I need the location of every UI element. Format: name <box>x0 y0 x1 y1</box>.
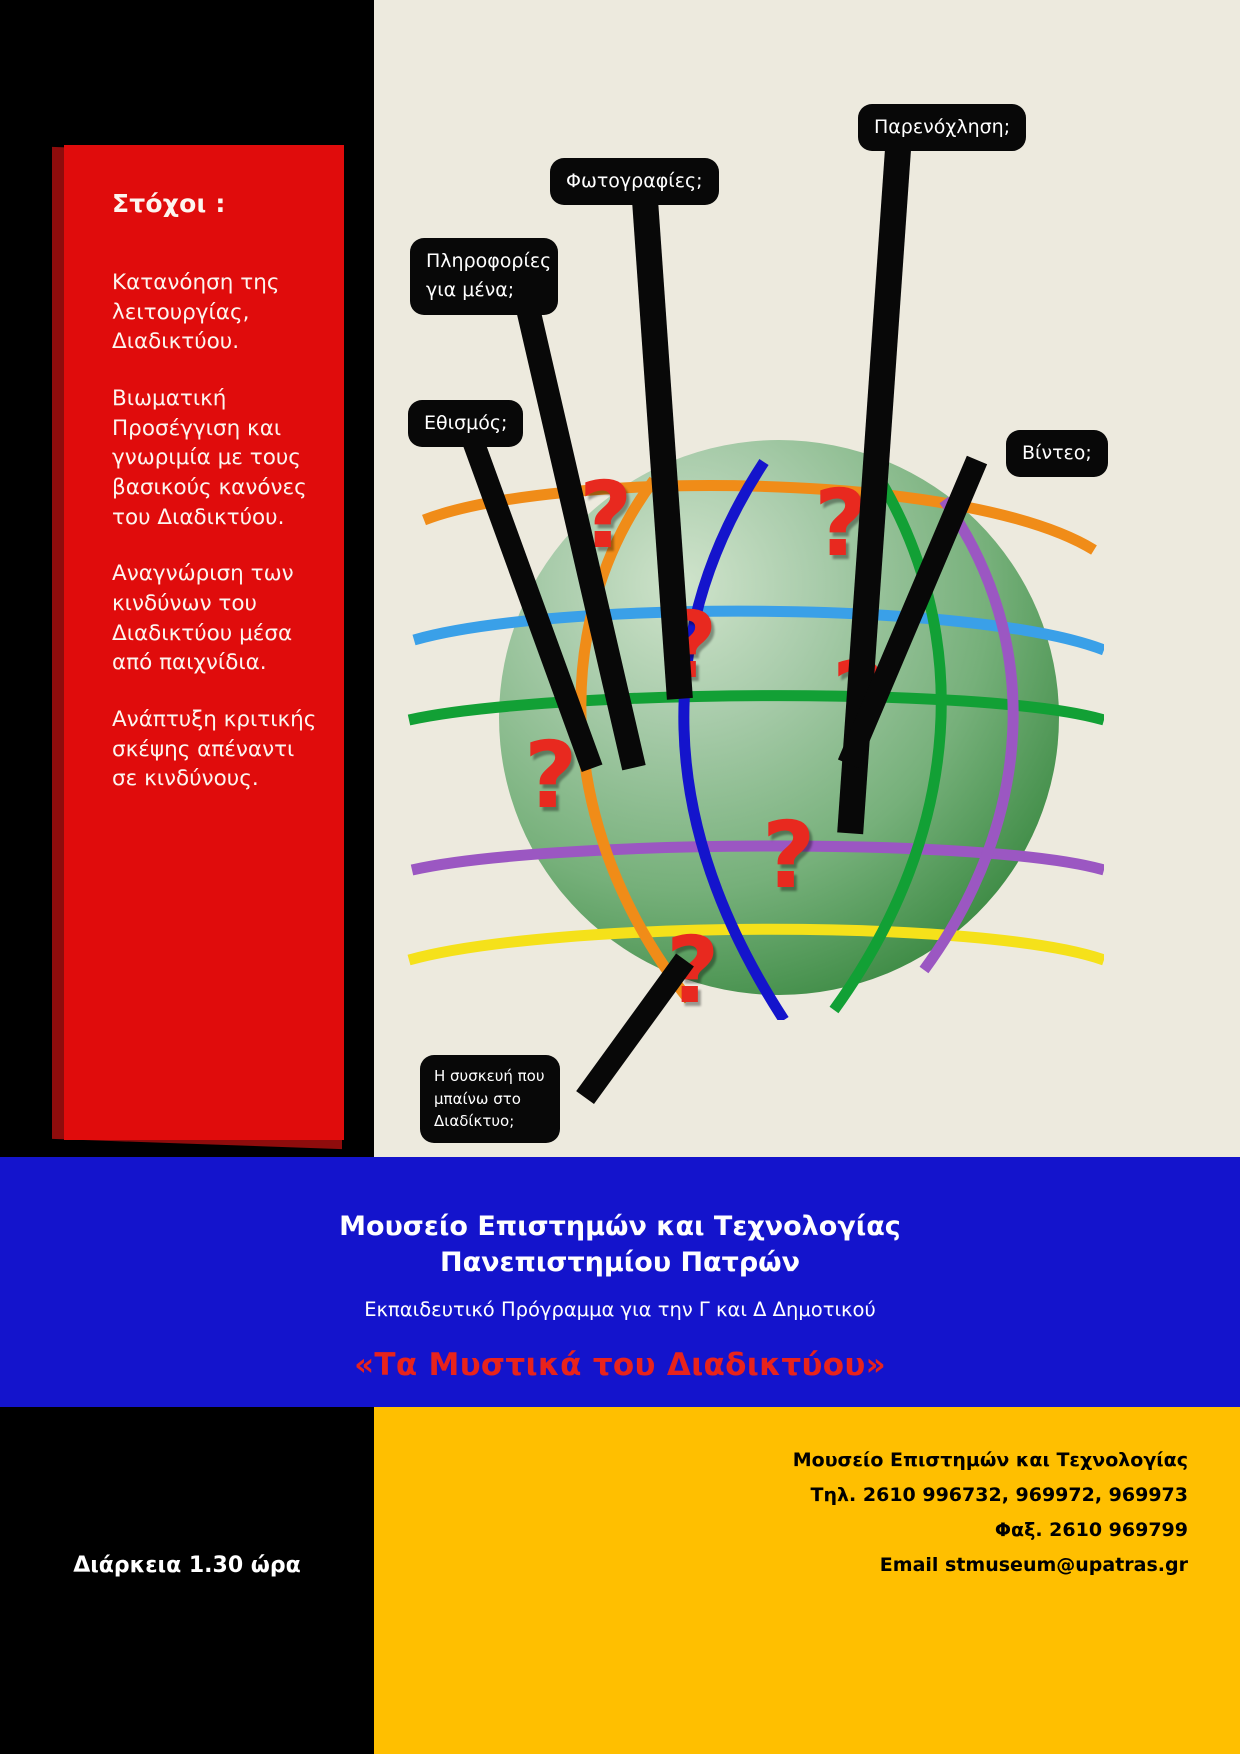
duration-label: Διάρκεια 1.30 ώρα <box>0 1407 374 1754</box>
bubble-harassment[interactable]: Παρενόχληση; <box>858 104 1026 151</box>
contact-museum-name: Μουσείο Επιστημών και Τεχνολογίας <box>374 1443 1188 1478</box>
contact-phone: Τηλ. 2610 996732, 969972, 969973 <box>374 1478 1188 1513</box>
goal-item: Κατανόηση της λειτουργίας, Διαδικτύου. <box>112 268 318 357</box>
bubble-device[interactable]: Η συσκευή που μπαίνω στο Διαδίκτυο; <box>420 1055 560 1143</box>
goals-card: Στόχοι : Κατανόηση της λειτουργίας, Διαδ… <box>64 145 344 1140</box>
bubble-info-about-me[interactable]: Πληροφορίες για μένα; <box>410 238 558 315</box>
illustration-stage: ? ? ? ? ? ? ? Εθισμός; Πληροφορίες για μ… <box>374 0 1240 1157</box>
footer-blue-band: Μουσείο Επιστημών και Τεχνολογίας Πανεπι… <box>0 1157 1240 1407</box>
contact-fax: Φαξ. 2610 969799 <box>374 1513 1188 1548</box>
question-mark: ? <box>524 730 577 822</box>
question-mark: ? <box>762 810 815 902</box>
goal-item: Βιωματική Προσέγγιση και γνωριμία με του… <box>112 384 318 532</box>
poster-root: ? ? ? ? ? ? ? Εθισμός; Πληροφορίες για μ… <box>0 0 1240 1754</box>
program-subtitle: Εκπαιδευτικό Πρόγραμμα για την Γ και Δ Δ… <box>0 1298 1240 1321</box>
program-title: «Τα Μυστικά του Διαδικτύου» <box>0 1347 1240 1383</box>
contact-block: Μουσείο Επιστημών και Τεχνολογίας Τηλ. 2… <box>374 1407 1240 1754</box>
bubble-video[interactable]: Βίντεο; <box>1006 430 1108 477</box>
organisation-name-line2: Πανεπιστημίου Πατρών <box>0 1245 1240 1281</box>
goal-item: Ανάπτυξη κριτικής σκέψης απέναντι σε κιν… <box>112 705 318 794</box>
goals-heading: Στόχοι : <box>112 189 318 218</box>
globe-grid <box>404 400 1104 1020</box>
organisation-name-line1: Μουσείο Επιστημών και Τεχνολογίας <box>0 1209 1240 1245</box>
globe-illustration: ? ? ? ? ? ? ? <box>404 400 1104 1020</box>
goal-item: Αναγνώριση των κινδύνων του Διαδικτύου μ… <box>112 559 318 678</box>
contact-email[interactable]: Email stmuseum@upatras.gr <box>374 1548 1188 1583</box>
bubble-addiction[interactable]: Εθισμός; <box>408 400 523 447</box>
bubble-photos[interactable]: Φωτογραφίες; <box>550 158 719 205</box>
